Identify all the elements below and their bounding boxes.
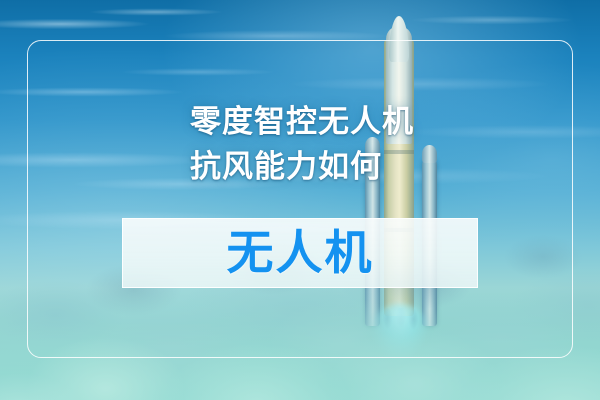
promo-banner: 零度智控无人机 抗风能力如何 无人机 <box>0 0 600 400</box>
ground-haze <box>0 280 600 400</box>
keyword-text: 无人机 <box>227 230 374 277</box>
headline-line-1: 零度智控无人机 <box>190 100 520 145</box>
headline-line-2: 抗风能力如何 <box>190 145 520 190</box>
rocket-nose-cone <box>389 16 409 62</box>
headline-block: 零度智控无人机 抗风能力如何 <box>190 100 520 190</box>
keyword-band: 无人机 <box>122 218 478 288</box>
